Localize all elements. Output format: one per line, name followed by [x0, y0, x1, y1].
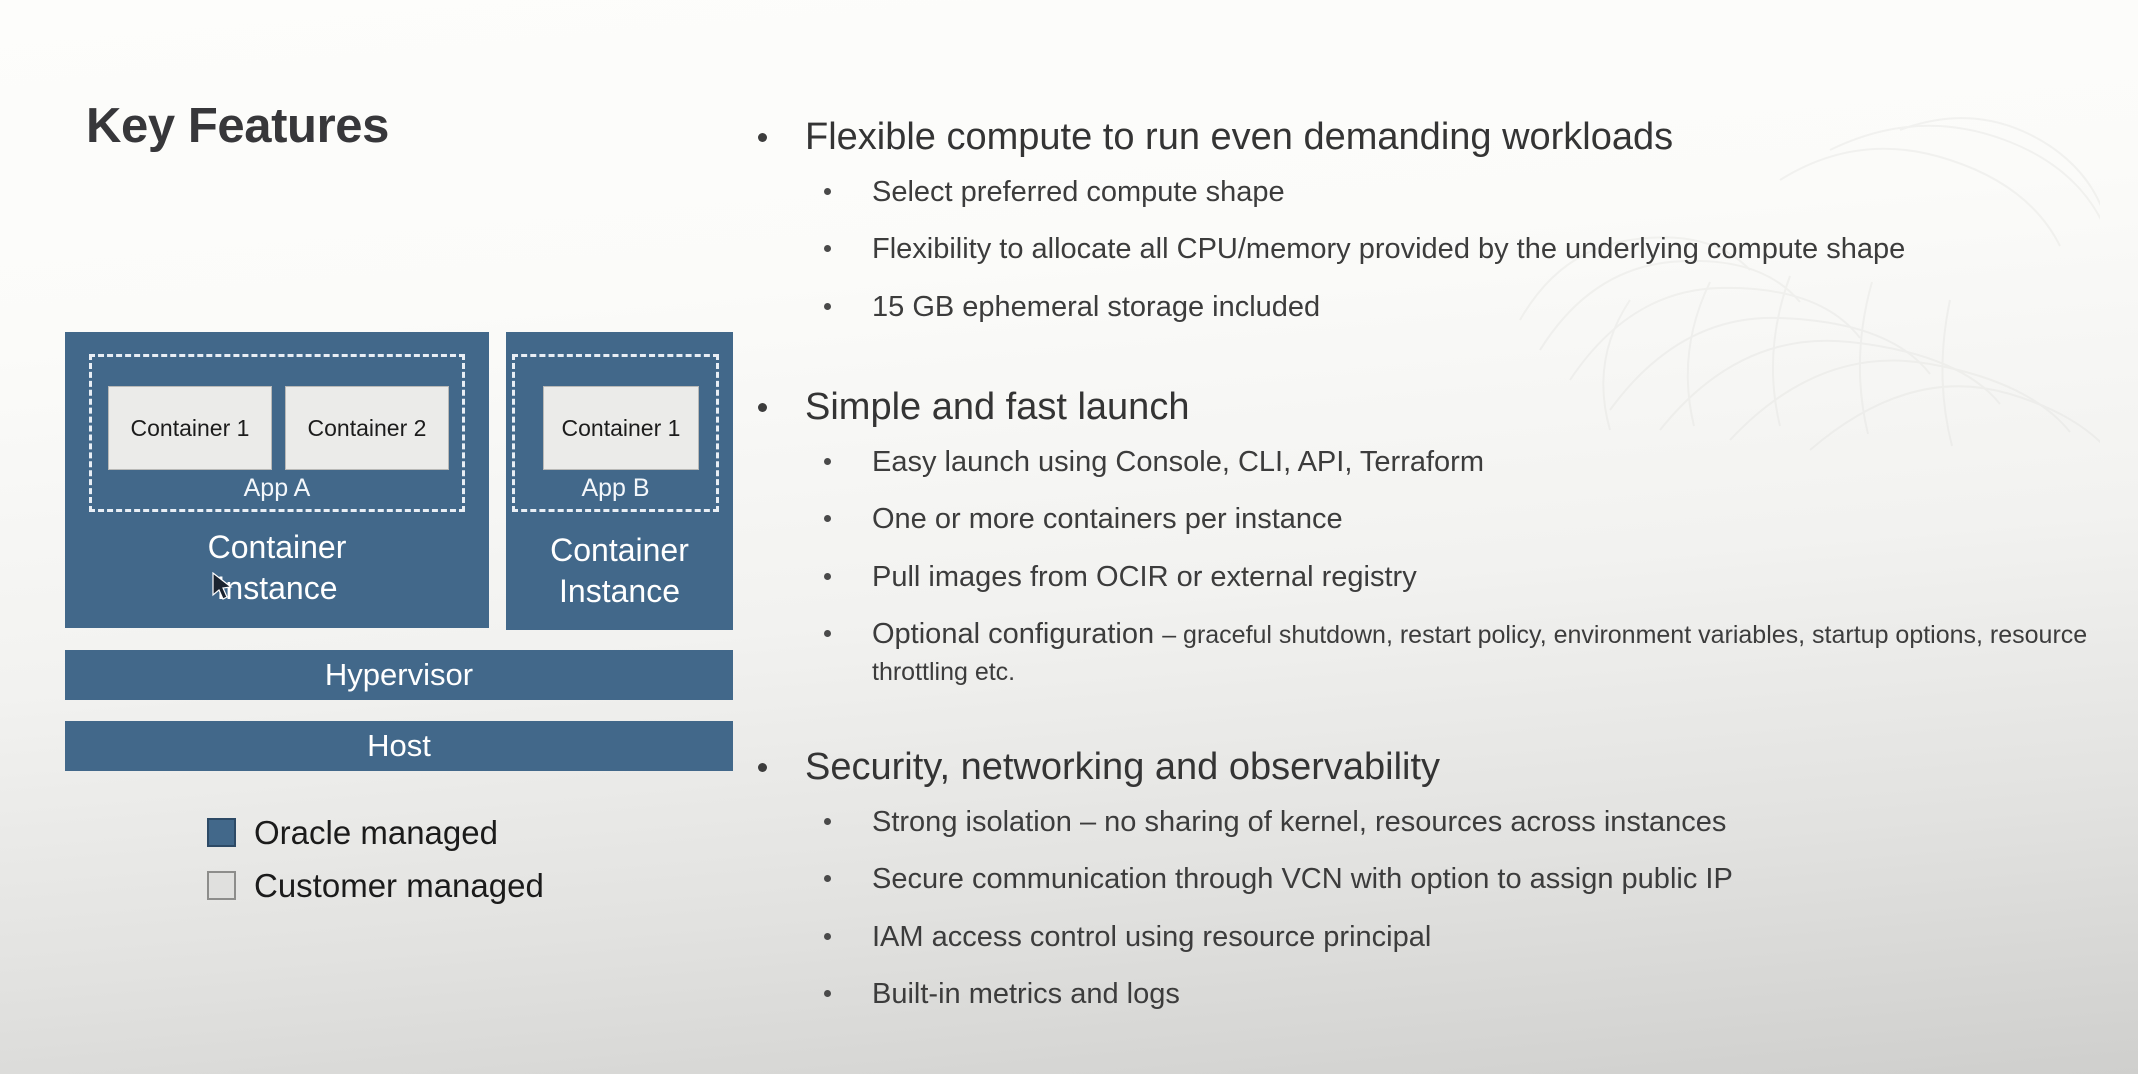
feature-heading-2-text: Security, networking and observability [805, 746, 1440, 788]
container-box-a1: Container 1 [108, 386, 272, 470]
feature-item-2-0-text: Strong isolation – no sharing of kernel,… [872, 806, 1726, 838]
feature-item-2-0: Strong isolation – no sharing of kernel,… [745, 804, 2125, 841]
feature-item-2-1-text: Secure communication through VCN with op… [872, 863, 1733, 895]
legend-item-oracle-managed: Oracle managed [207, 806, 544, 859]
hypervisor-bar: Hypervisor [65, 650, 733, 700]
feature-item-1-0-text: Easy launch using Console, CLI, API, Ter… [872, 446, 1484, 478]
bullet-dot-icon [824, 303, 831, 310]
feature-heading-2: Security, networking and observability [745, 745, 2125, 790]
bullet-dot-icon [824, 515, 831, 522]
feature-item-1-1: One or more containers per instance [745, 501, 2125, 538]
legend-item-customer-managed: Customer managed [207, 859, 544, 912]
feature-item-2-3-text: Built-in metrics and logs [872, 978, 1180, 1010]
feature-heading-0-text: Flexible compute to run even demanding w… [805, 116, 1673, 158]
slide-canvas: Key Features Container 1 Container 2 Con… [0, 0, 2138, 1074]
feature-heading-0: Flexible compute to run even demanding w… [745, 115, 2125, 160]
feature-sublist-2: Strong isolation – no sharing of kernel,… [745, 804, 2125, 1013]
legend-label-customer-managed: Customer managed [254, 867, 544, 905]
feature-item-2-3: Built-in metrics and logs [745, 976, 2125, 1013]
feature-item-1-0: Easy launch using Console, CLI, API, Ter… [745, 444, 2125, 481]
app-a-label: App A [89, 474, 465, 503]
bullet-dot-icon [824, 875, 831, 882]
feature-section-2: Security, networking and observability S… [745, 745, 2125, 1034]
bullet-dot-icon [824, 573, 831, 580]
app-b-label: App B [512, 474, 719, 503]
feature-heading-1-text: Simple and fast launch [805, 386, 1189, 428]
feature-item-2-2-text: IAM access control using resource princi… [872, 921, 1431, 953]
feature-item-0-0: Select preferred compute shape [745, 174, 2125, 211]
bullet-dot-icon [758, 133, 767, 142]
bullet-dot-icon [824, 188, 831, 195]
container-instance-b-label-line2: Instance [506, 571, 733, 612]
feature-item-1-2-text: Pull images from OCIR or external regist… [872, 561, 1417, 593]
bullet-dot-icon [824, 245, 831, 252]
bullet-dot-icon [824, 458, 831, 465]
container-instance-a-label-line2: Instance [65, 568, 489, 609]
host-bar: Host [65, 721, 733, 771]
feature-item-1-1-text: One or more containers per instance [872, 503, 1343, 535]
feature-sublist-1: Easy launch using Console, CLI, API, Ter… [745, 444, 2125, 690]
bullet-dot-icon [824, 933, 831, 940]
feature-item-2-2: IAM access control using resource princi… [745, 919, 2125, 956]
container-instance-b-label: Container Instance [506, 530, 733, 612]
feature-item-0-1: Flexibility to allocate all CPU/memory p… [745, 231, 2125, 268]
feature-heading-1: Simple and fast launch [745, 385, 2125, 430]
feature-item-0-2: 15 GB ephemeral storage included [745, 289, 2125, 326]
bullet-dot-icon [758, 763, 767, 772]
bullet-dot-icon [824, 818, 831, 825]
legend: Oracle managed Customer managed [207, 806, 544, 912]
container-instance-b-label-line1: Container [506, 530, 733, 571]
bullet-dot-icon [824, 630, 831, 637]
feature-item-2-1: Secure communication through VCN with op… [745, 861, 2125, 898]
customer-managed-swatch-icon [207, 871, 236, 900]
feature-section-1: Simple and fast launch Easy launch using… [745, 385, 2125, 710]
bullet-dot-icon [824, 990, 831, 997]
feature-section-0: Flexible compute to run even demanding w… [745, 115, 2125, 346]
features-list: Flexible compute to run even demanding w… [745, 0, 2125, 1074]
feature-item-1-2: Pull images from OCIR or external regist… [745, 559, 2125, 596]
feature-item-0-1-text: Flexibility to allocate all CPU/memory p… [872, 233, 1905, 265]
container-instance-a-label: Container Instance [65, 527, 489, 609]
container-box-b1: Container 1 [543, 386, 699, 470]
feature-item-1-3: Optional configuration – graceful shutdo… [745, 616, 2125, 689]
feature-item-0-0-text: Select preferred compute shape [872, 176, 1285, 208]
feature-item-1-3-text: Optional configuration [872, 618, 1162, 650]
feature-sublist-0: Select preferred compute shape Flexibili… [745, 174, 2125, 326]
architecture-diagram: Container 1 Container 2 Container 1 App … [0, 0, 780, 1074]
legend-label-oracle-managed: Oracle managed [254, 814, 498, 852]
container-instance-a-label-line1: Container [65, 527, 489, 568]
oracle-managed-swatch-icon [207, 818, 236, 847]
container-box-a2: Container 2 [285, 386, 449, 470]
feature-item-0-2-text: 15 GB ephemeral storage included [872, 291, 1320, 323]
bullet-dot-icon [758, 403, 767, 412]
